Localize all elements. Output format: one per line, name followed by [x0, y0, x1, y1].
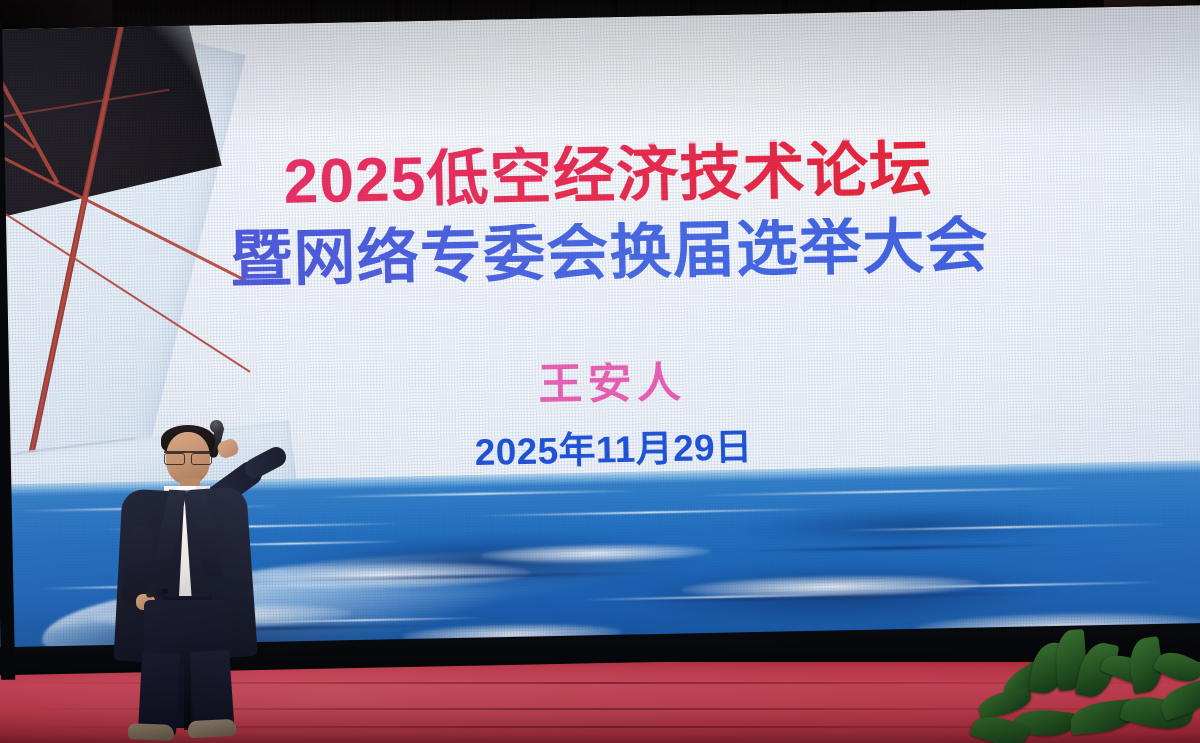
glasses-icon — [164, 451, 212, 463]
conference-stage-photo: 2025低空经济技术论坛 暨网络专委会换届选举大会 王安人 2025年11月29… — [0, 0, 1200, 743]
trouser-shadow-gap — [184, 650, 191, 730]
plant-leaf — [1157, 679, 1200, 721]
presenter-shoe-right — [188, 719, 237, 738]
water-ripple — [319, 490, 639, 498]
presenter-shoe-left — [128, 723, 175, 741]
water-ripple — [480, 508, 820, 517]
raised-forearm — [241, 444, 289, 482]
presenter-figure — [60, 418, 290, 743]
stage-potted-plant — [970, 614, 1200, 743]
water-ripple — [699, 487, 1079, 497]
